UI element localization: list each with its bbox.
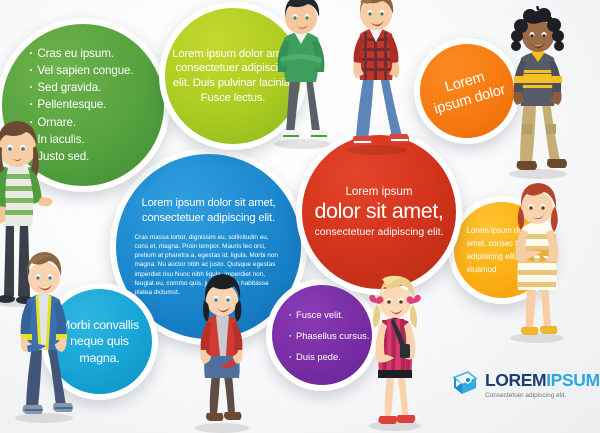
logo-tagline: Consectetuer adipiscing elit. <box>485 393 600 399</box>
list-item: Cras eu ipsum. <box>29 45 152 62</box>
character-boy-green-polo <box>266 0 338 152</box>
logo-word-lorem: LOREM <box>485 370 546 390</box>
orange-bubble-text: Lorem ipsum dolor <box>423 63 510 119</box>
red-bubble-line2: dolor sit amet, <box>313 199 445 223</box>
logo-mark-icon <box>452 370 478 401</box>
list-item: Duis pede. <box>289 346 365 367</box>
character-boy-plaid-shirt <box>338 0 416 160</box>
purple-bullet-list: Fusce velit. Phasellus cursus. Duis pede… <box>289 304 365 367</box>
red-bubble-text: Lorem ipsum dolor sit amet, consectetuer… <box>313 184 445 240</box>
list-item: Vel sapien congue. <box>29 62 152 79</box>
logo-text: LOREMIPSUM Consectetuer adipiscing elit. <box>485 372 600 399</box>
list-item: Phasellus cursus. <box>289 325 365 346</box>
logo-title: LOREMIPSUM <box>485 370 600 390</box>
red-bubble-line3: consectetuer adipiscing elit. <box>313 225 445 240</box>
purple-bubble-text: Fusce velit. Phasellus cursus. Duis pede… <box>279 304 365 367</box>
blue-bubble-heading: Lorem ipsum dolor sit amet, consectetuer… <box>135 196 283 226</box>
character-boy-curly-sweater <box>500 6 576 182</box>
logo-word-ipsum: IPSUM <box>546 370 599 390</box>
brand-logo[interactable]: LOREMIPSUM Consectetuer adipiscing elit. <box>452 370 600 401</box>
list-item: Sed gravida. <box>29 79 152 96</box>
poster-canvas: Cras eu ipsum. Vel sapien congue. Sed gr… <box>0 0 600 433</box>
character-girl-red-jacket <box>186 270 258 433</box>
character-boy-blue-jacket <box>6 248 82 426</box>
character-girl-blonde-pigtails <box>360 272 430 433</box>
red-bubble-line1: Lorem ipsum <box>313 184 445 199</box>
list-item: Fusce velit. <box>289 304 365 325</box>
character-girl-striped-dress <box>502 178 572 346</box>
